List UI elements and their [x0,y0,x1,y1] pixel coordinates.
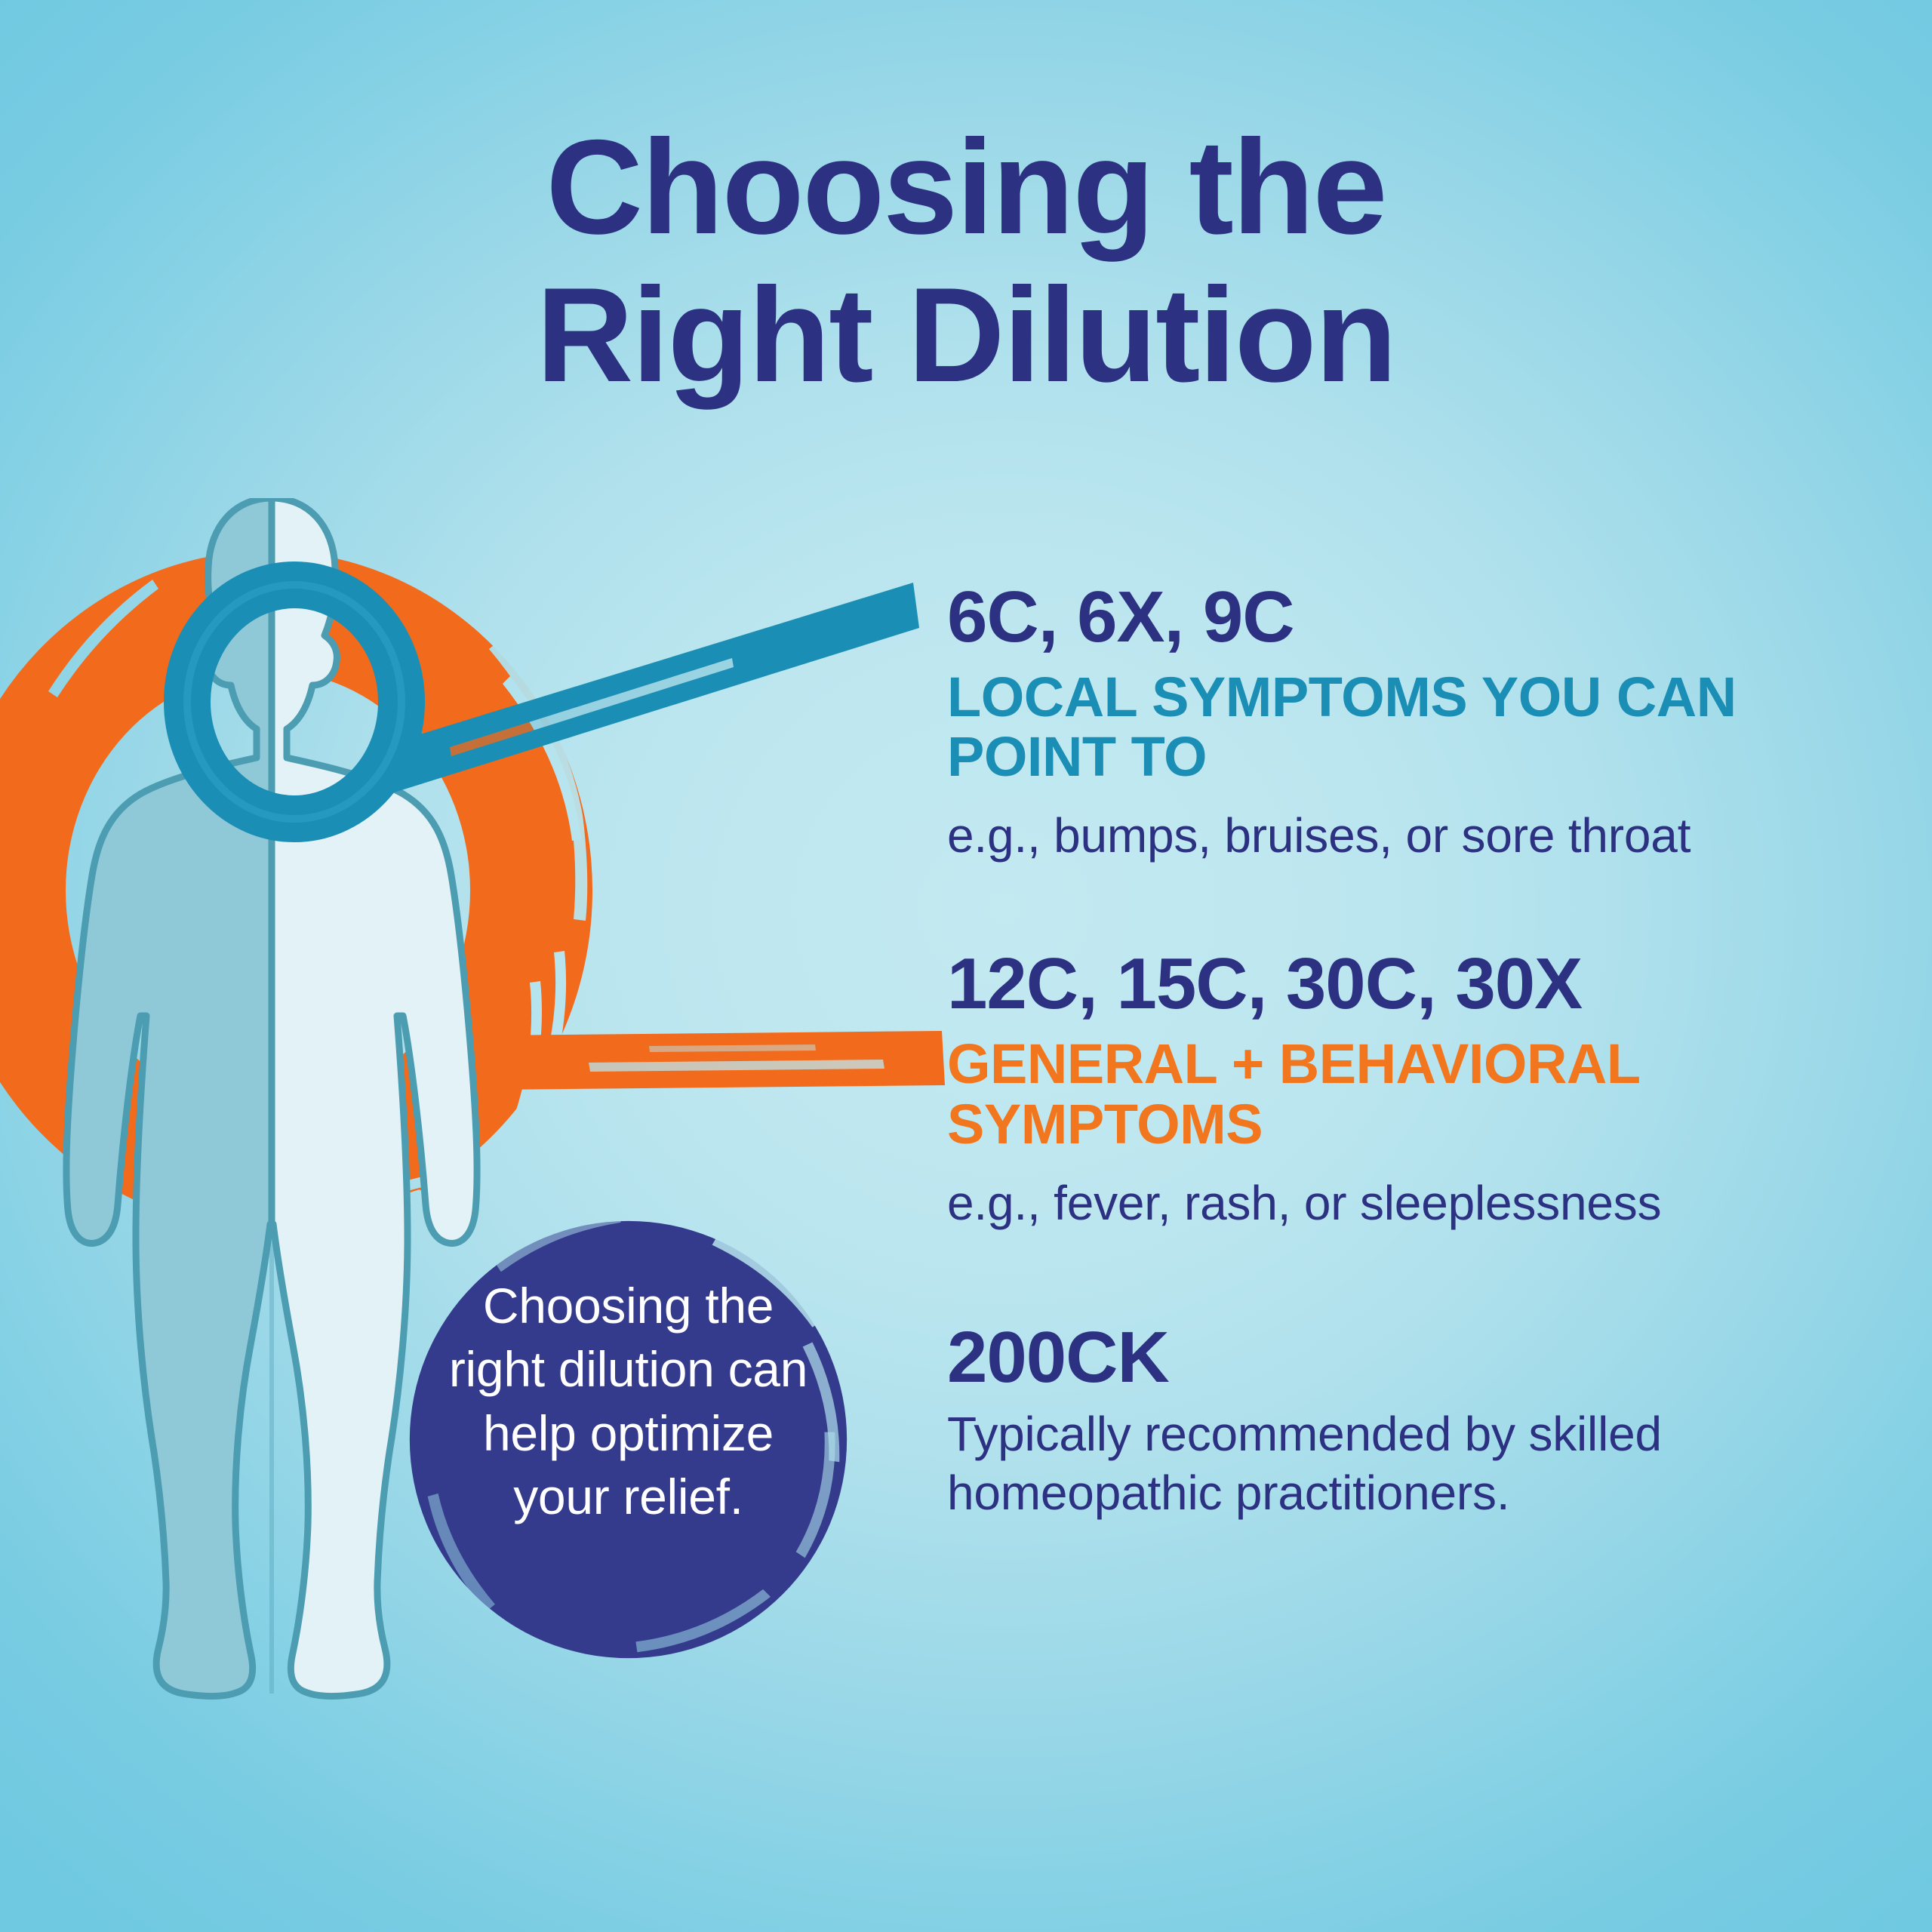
potency-label-3: 200CK [947,1321,1906,1394]
page-title: Choosing the Right Dilution [0,113,1932,409]
symptom-heading-1: LOCAL SYMPTOMS YOU CAN POINT TO [947,667,1906,786]
infographic-poster: Choosing the Right Dilution [0,0,1932,1932]
dilution-item-local: 6C, 6X, 9C LOCAL SYMPTOMS YOU CAN POINT … [947,581,1906,865]
badge-text: Choosing the right dilution can help opt… [434,1274,823,1529]
potency-label-1: 6C, 6X, 9C [947,581,1906,654]
title-line-2: Right Dilution [0,261,1932,409]
dilution-item-practitioner: 200CK Typically recommended by skilled h… [947,1321,1906,1522]
dilution-item-general: 12C, 15C, 30C, 30X GENERAL + BEHAVIORAL … [947,948,1906,1232]
status-badge: Choosing the right dilution can help opt… [396,1207,860,1672]
potency-label-2: 12C, 15C, 30C, 30X [947,948,1906,1020]
symptom-example-2: e.g., fever, rash, or sleeplessness [947,1174,1906,1232]
symptom-example-3: Typically recommended by skilled homeopa… [947,1404,1906,1522]
symptom-heading-2: GENERAL + BEHAVIORAL SYMPTOMS [947,1034,1906,1153]
dilution-list: 6C, 6X, 9C LOCAL SYMPTOMS YOU CAN POINT … [947,581,1906,1522]
symptom-example-1: e.g., bumps, bruises, or sore throat [947,806,1906,865]
title-line-1: Choosing the [0,113,1932,261]
